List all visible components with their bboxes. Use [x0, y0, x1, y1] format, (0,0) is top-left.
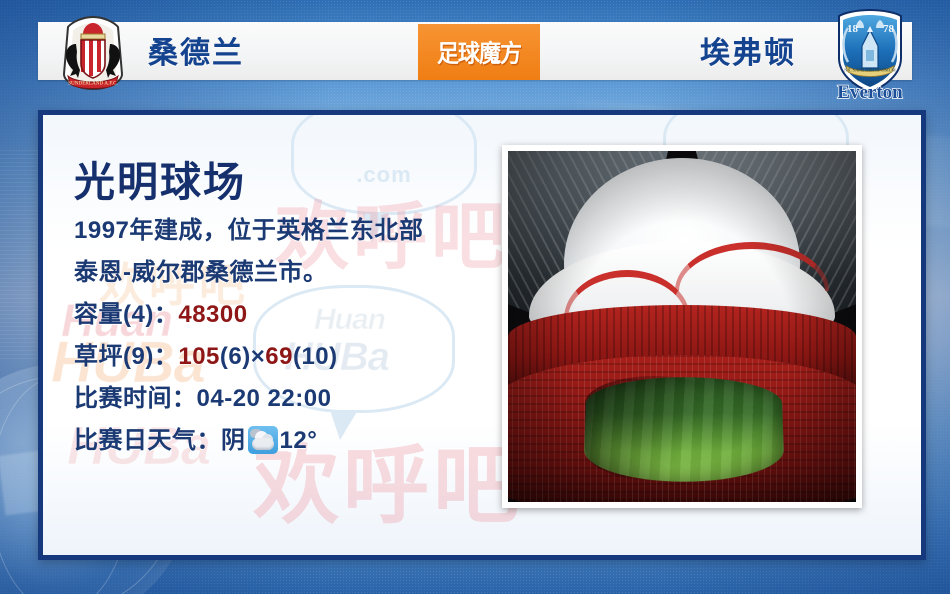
- away-crest-wordmark: Everton: [837, 82, 903, 102]
- watermark-bubble-top: .com: [291, 110, 477, 215]
- capacity-line: 容量(4)：48300: [74, 294, 494, 336]
- capacity-label: 容量(4)：: [74, 301, 178, 328]
- pitch-length-rank: (6): [220, 343, 251, 370]
- site-logo-text: 足球魔方: [437, 35, 521, 70]
- capacity-value: 48300: [178, 301, 247, 328]
- away-crest-year-right: 78: [883, 23, 895, 35]
- stadium-photo-frame[interactable]: [502, 145, 862, 508]
- away-crest-year-left: 18: [847, 23, 859, 35]
- match-stadium-card-screen: SUNDERLAND A.F.C. 桑德兰 足球魔方 埃弗顿: [0, 0, 950, 594]
- home-team-name: 桑德兰: [148, 28, 244, 72]
- everton-crest: 18 78 NIL SATIS NISI OPTIMUM Everton: [820, 6, 920, 102]
- away-team-name: 埃弗顿: [700, 28, 796, 72]
- match-time-label: 比赛时间：: [74, 385, 197, 412]
- match-time-line: 比赛时间：04-20 22:00: [74, 378, 494, 420]
- stadium-info-text: 1997年建成，位于英格兰东北部 泰恩-威尔郡桑德兰市。 容量(4)：48300…: [74, 210, 494, 462]
- stadium-desc-line-2: 泰恩-威尔郡桑德兰市。: [74, 252, 494, 294]
- site-logo-badge[interactable]: 足球魔方: [418, 24, 540, 80]
- pitch-label: 草坪(9)：: [74, 343, 178, 370]
- photo-vignette: [508, 151, 856, 502]
- sunderland-crest: SUNDERLAND A.F.C.: [50, 14, 136, 92]
- pitch-times-symbol: ×: [251, 343, 266, 370]
- pitch-length: 105: [178, 343, 220, 370]
- stadium-photo: [508, 151, 856, 502]
- weather-condition: 阴: [221, 427, 246, 454]
- stadium-title: 光明球场: [74, 148, 246, 208]
- home-crest-wordmark: SUNDERLAND A.F.C.: [68, 81, 118, 87]
- svg-text:NIL SATIS NISI OPTIMUM: NIL SATIS NISI OPTIMUM: [844, 68, 896, 73]
- watermark-bubble-com-text: .com: [294, 162, 474, 188]
- pitch-line: 草坪(9)：105(6)×69(10): [74, 336, 494, 378]
- match-time-value: 04-20 22:00: [197, 385, 332, 412]
- weather-temp: 12°: [280, 427, 318, 454]
- stadium-desc-line-1: 1997年建成，位于英格兰东北部: [74, 210, 494, 252]
- weather-line: 比赛日天气：阴12°: [74, 420, 494, 462]
- cloudy-icon: [248, 426, 278, 454]
- pitch-width-rank: (10): [293, 343, 338, 370]
- pitch-width: 69: [265, 343, 293, 370]
- weather-label: 比赛日天气：: [74, 427, 221, 454]
